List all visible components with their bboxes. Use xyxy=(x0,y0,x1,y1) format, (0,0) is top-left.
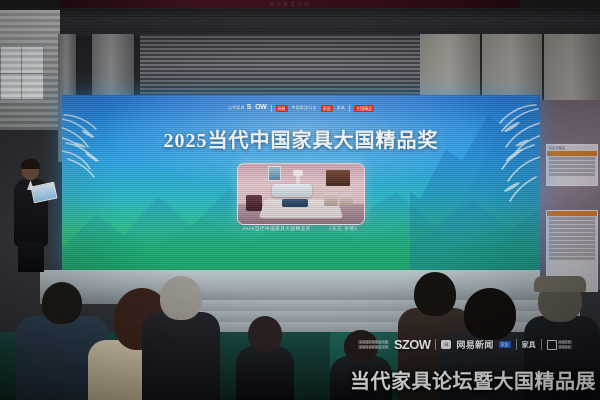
screen-logo-strip: 当代家具 S OW 网易 中国家居行业 家居 家具 大国精品 xyxy=(228,104,374,112)
led-stage-screen: 当代家具 S OW 网易 中国家居行业 家居 家具 大国精品 2025当代中国家… xyxy=(62,95,540,273)
broadcast-footer-overlay: 深圳国际家居设计展 深圳时尚家居设计周 SZOW 网 网易新闻 家居 家具 中国… xyxy=(0,336,600,400)
szow-subtitle-line2: 深圳时尚家居设计周 xyxy=(358,345,389,349)
photo-scene: 当代家具论坛 论坛日程表 xyxy=(0,0,600,400)
screen-logo-ow: OW xyxy=(255,104,266,112)
product-cabinet xyxy=(326,170,350,186)
hall-wall-panel-3 xyxy=(544,34,600,102)
schedule-board-1-header xyxy=(547,151,597,156)
screen-logo-brand: 当代家具 S xyxy=(228,104,251,112)
screen-title: 2025当代中国家具大国精品奖 xyxy=(62,124,540,153)
product-caption-left: 2025当代中国家具大国精品奖 xyxy=(242,226,311,232)
hall-right-wall: 论坛日程表 xyxy=(540,100,600,290)
sponsor-divider-1 xyxy=(435,339,436,350)
presenter-person xyxy=(8,160,54,272)
szow-logo: SZOW xyxy=(394,338,431,351)
schedule-board-1: 论坛日程表 xyxy=(546,144,598,186)
screen-logo-brand-text: 当代家具 xyxy=(228,105,245,111)
ceiling-slab xyxy=(0,8,600,36)
screen-logo-separator-2 xyxy=(349,105,350,112)
partner-logo-icon xyxy=(547,340,557,350)
screen-logo-ow-mark: OW xyxy=(255,104,266,112)
sponsor-divider-2 xyxy=(516,339,517,350)
partner-logo: 中国家居 流通协会 xyxy=(547,340,572,350)
bamboo-leaves-right-icon xyxy=(456,101,540,213)
screen-logo-netease-badge: 网易 xyxy=(276,105,288,112)
product-armchair-left xyxy=(246,195,262,211)
szow-subtitle-line1: 深圳国际家居设计展 xyxy=(358,340,389,344)
screen-logo-brand-mark: S xyxy=(247,104,251,112)
broadcast-headline: 当代家具论坛暨大国精品展 xyxy=(350,365,596,394)
presenter-hair xyxy=(21,159,40,169)
sponsor-divider-3 xyxy=(541,339,542,350)
screen-logo-award-badge: 大国精品 xyxy=(354,105,374,112)
screen-logo-home-badge: 家居 xyxy=(321,105,333,112)
hall-window xyxy=(0,46,44,100)
product-chair-right-1 xyxy=(324,193,338,206)
netease-home-badge: 家居 xyxy=(499,341,511,348)
presenter-legs xyxy=(18,242,44,272)
netease-news-label: 网易新闻 xyxy=(456,338,493,351)
hall-wall-panel-1 xyxy=(420,34,480,102)
hall-roller-shutter xyxy=(140,34,420,102)
hall-wall-panel-2 xyxy=(482,34,542,102)
netease-icon: 网 xyxy=(441,340,451,349)
product-caption-right: 《东方·令颂》 xyxy=(327,226,360,232)
product-sofa xyxy=(272,184,312,197)
szow-subtitle: 深圳国际家居设计展 深圳时尚家居设计周 xyxy=(358,340,389,349)
schedule-board-2-header xyxy=(547,211,597,216)
presenter-document xyxy=(30,182,57,204)
hall-left-wall xyxy=(0,10,60,130)
product-chair-right-2 xyxy=(340,194,353,206)
product-coffee-table xyxy=(282,199,308,207)
screen-logo-industry-text: 中国家居行业 xyxy=(292,105,317,111)
audience-cap xyxy=(534,276,586,292)
screen-logo-separator-1 xyxy=(271,105,272,112)
screen-logo-furniture-text: 家具 xyxy=(337,105,345,111)
furniture-label: 家具 xyxy=(522,340,536,350)
award-product-image xyxy=(237,163,365,225)
partner-logo-line1: 中国家居 xyxy=(558,340,572,344)
product-caption: 2025当代中国家具大国精品奖 《东方·令颂》 xyxy=(242,226,359,232)
sponsor-logo-bar: 深圳国际家居设计展 深圳时尚家居设计周 SZOW 网 网易新闻 家居 家具 中国… xyxy=(358,338,572,351)
ceiling-banner-text: 当代家具论坛 xyxy=(269,1,311,8)
product-wall-art xyxy=(268,166,281,181)
partner-logo-line2: 流通协会 xyxy=(558,345,572,349)
